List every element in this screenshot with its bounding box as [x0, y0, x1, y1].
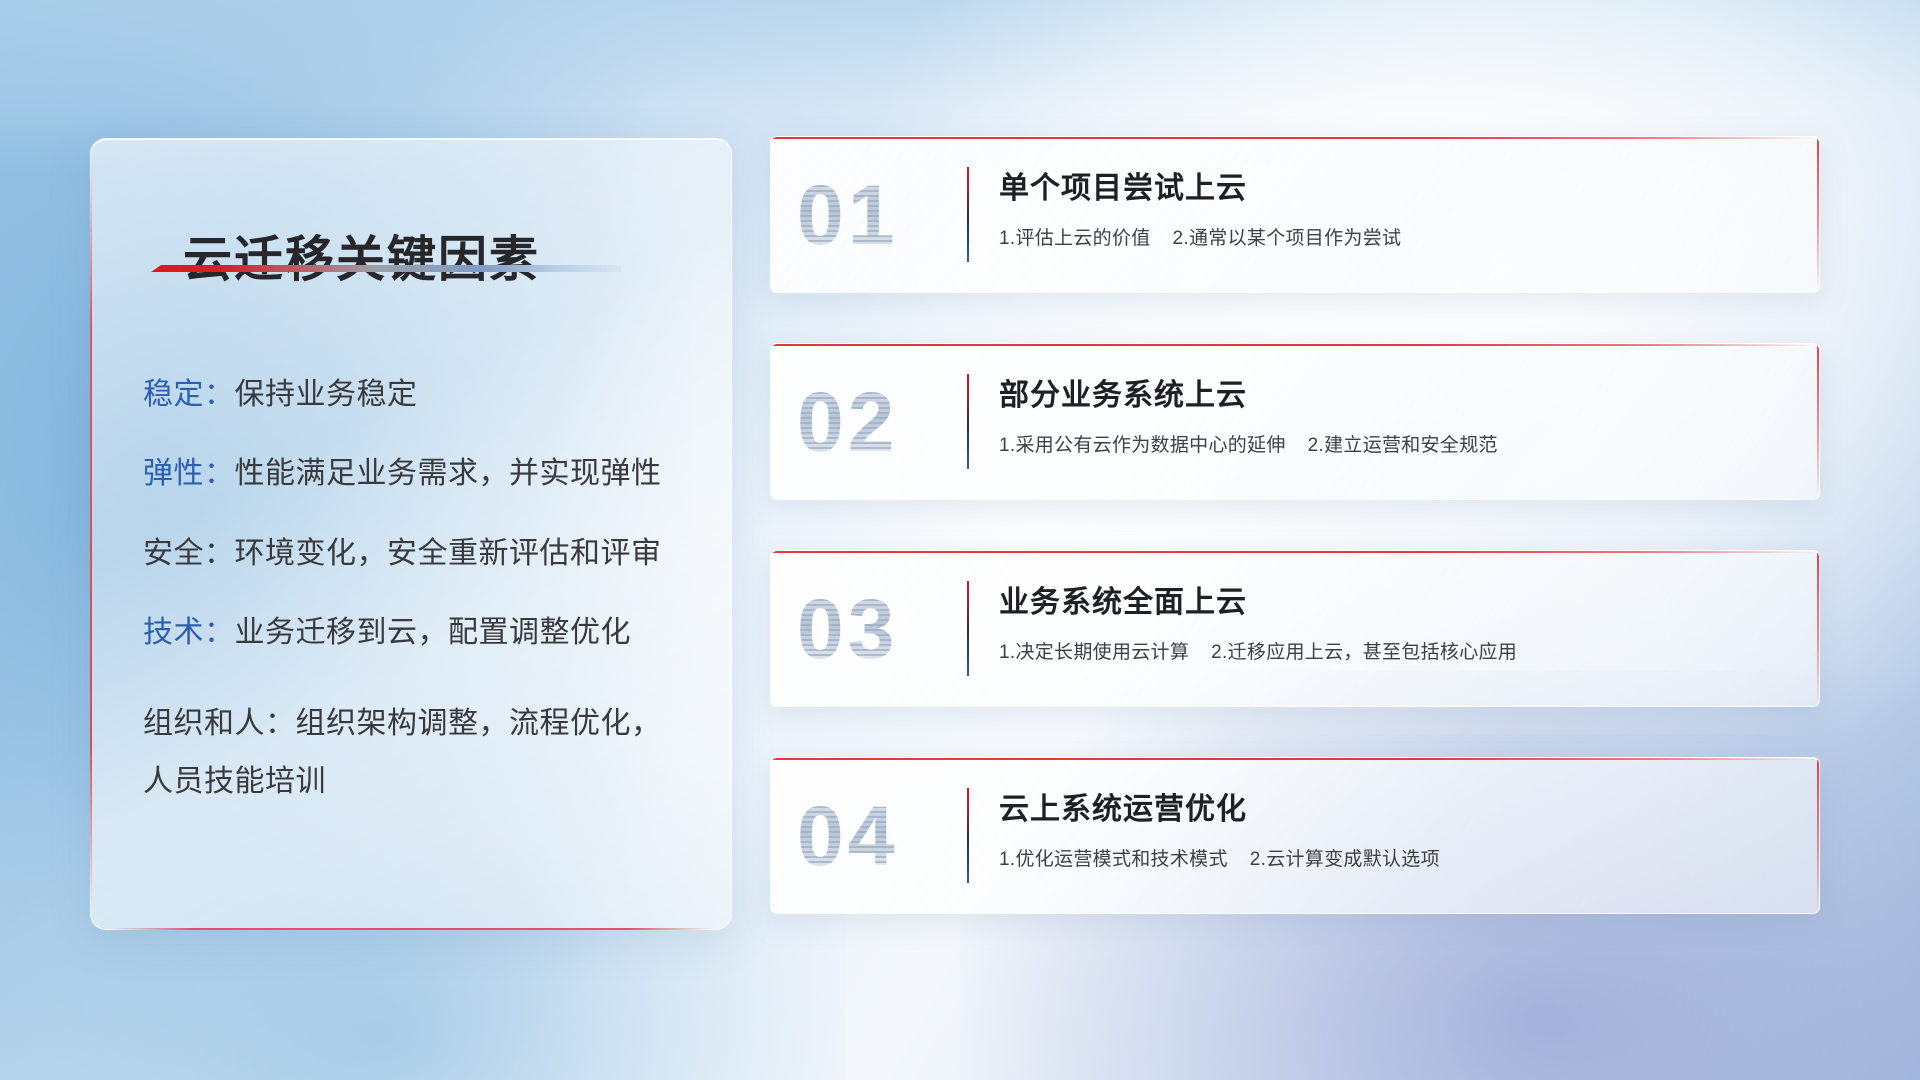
stage-divider-accent [967, 581, 969, 676]
key-factor-item: 组织和人：组织架构调整，流程优化，人员技能培训 [143, 695, 691, 812]
stage-number: 01 [797, 173, 898, 257]
key-factor-label: 技术： [143, 616, 235, 649]
page-title: 云迁移关键因素 [183, 220, 540, 291]
stage-title: 云上系统运营优化 [999, 784, 1785, 828]
title-underline-accent [151, 265, 621, 272]
slide-stage: 云迁移关键因素 稳定：保持业务稳定弹性：性能满足业务需求，并实现弹性安全：环境变… [0, 0, 1920, 1080]
key-factor-text: 性能满足业务需求，并实现弹性 [235, 457, 662, 490]
stage-description-item: 2.建立运营和安全规范 [1308, 435, 1498, 456]
stage-description-item: 2.云计算变成默认选项 [1250, 849, 1440, 870]
stage-description-item: 2.通常以某个项目作为尝试 [1173, 228, 1402, 249]
key-factor-label: 组织和人： [143, 707, 296, 740]
stage-card-list: 01单个项目尝试上云1.评估上云的价值2.通常以某个项目作为尝试02部分业务系统… [770, 136, 1820, 964]
stage-title: 部分业务系统上云 [999, 370, 1785, 414]
stage-description: 1.决定长期使用云计算2.迁移应用上云，甚至包括核心应用 [999, 637, 1785, 664]
stage-description-item: 1.评估上云的价值 [999, 228, 1151, 249]
key-factor-label: 弹性： [143, 457, 235, 490]
key-factor-text: 保持业务稳定 [235, 378, 418, 411]
stage-card-body: 业务系统全面上云1.决定长期使用云计算2.迁移应用上云，甚至包括核心应用 [999, 577, 1785, 664]
stage-number: 03 [797, 587, 898, 671]
stage-divider-accent [967, 167, 969, 262]
stage-card[interactable]: 01单个项目尝试上云1.评估上云的价值2.通常以某个项目作为尝试 [770, 136, 1820, 293]
stage-description-item: 1.优化运营模式和技术模式 [999, 849, 1228, 870]
key-factors-panel: 云迁移关键因素 稳定：保持业务稳定弹性：性能满足业务需求，并实现弹性安全：环境变… [90, 138, 732, 930]
key-factor-text: 业务迁移到云，配置调整优化 [235, 616, 632, 649]
stage-description-item: 2.迁移应用上云，甚至包括核心应用 [1211, 642, 1517, 663]
stage-card[interactable]: 04云上系统运营优化1.优化运营模式和技术模式2.云计算变成默认选项 [770, 757, 1820, 914]
stage-card[interactable]: 03业务系统全面上云1.决定长期使用云计算2.迁移应用上云，甚至包括核心应用 [770, 550, 1820, 707]
key-factor-item: 弹性：性能满足业务需求，并实现弹性 [143, 456, 691, 491]
key-factor-label: 稳定： [143, 378, 235, 411]
stage-divider-accent [967, 788, 969, 883]
key-factor-item: 技术：业务迁移到云，配置调整优化 [143, 615, 691, 650]
key-factors-list: 稳定：保持业务稳定弹性：性能满足业务需求，并实现弹性安全：环境变化，安全重新评估… [143, 377, 691, 856]
key-factor-item: 安全：环境变化，安全重新评估和评审 [143, 536, 691, 571]
stage-description: 1.评估上云的价值2.通常以某个项目作为尝试 [999, 223, 1785, 250]
stage-card[interactable]: 02部分业务系统上云1.采用公有云作为数据中心的延伸2.建立运营和安全规范 [770, 343, 1820, 500]
stage-description-item: 1.决定长期使用云计算 [999, 642, 1189, 663]
stage-number: 02 [797, 380, 898, 464]
stage-card-body: 部分业务系统上云1.采用公有云作为数据中心的延伸2.建立运营和安全规范 [999, 370, 1785, 457]
key-factor-label: 安全： [143, 537, 235, 570]
stage-description: 1.采用公有云作为数据中心的延伸2.建立运营和安全规范 [999, 430, 1785, 457]
stage-card-body: 云上系统运营优化1.优化运营模式和技术模式2.云计算变成默认选项 [999, 784, 1785, 871]
stage-title: 业务系统全面上云 [999, 577, 1785, 621]
stage-card-body: 单个项目尝试上云1.评估上云的价值2.通常以某个项目作为尝试 [999, 163, 1785, 250]
key-factor-item: 稳定：保持业务稳定 [143, 377, 691, 412]
stage-description: 1.优化运营模式和技术模式2.云计算变成默认选项 [999, 844, 1785, 871]
stage-number: 04 [797, 794, 898, 878]
stage-divider-accent [967, 374, 969, 469]
stage-description-item: 1.采用公有云作为数据中心的延伸 [999, 435, 1286, 456]
key-factor-text: 环境变化，安全重新评估和评审 [235, 537, 662, 570]
stage-title: 单个项目尝试上云 [999, 163, 1785, 207]
